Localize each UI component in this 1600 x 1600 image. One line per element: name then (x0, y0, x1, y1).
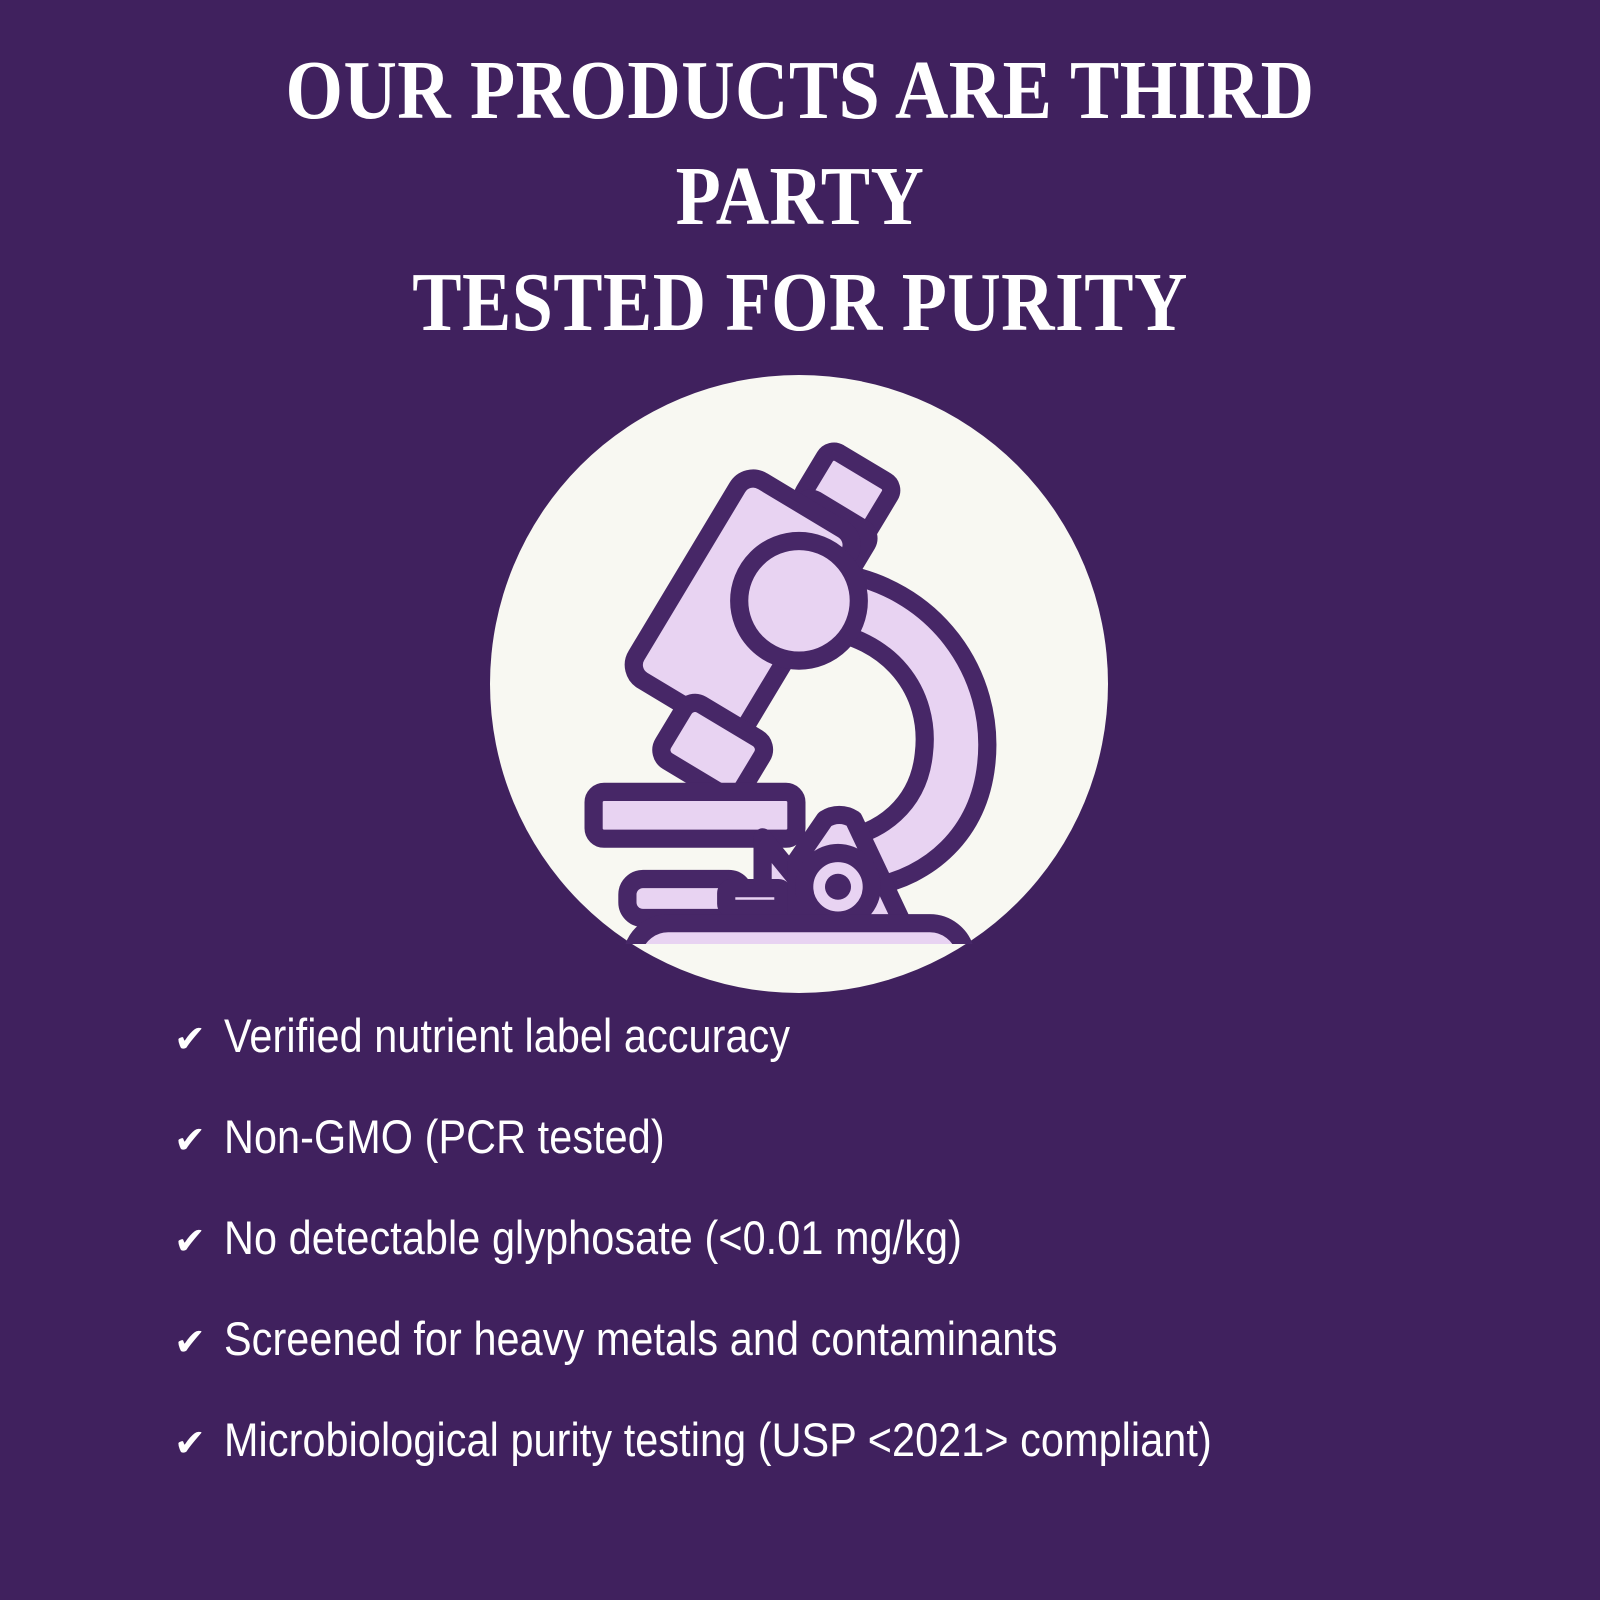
list-item: ✔ No detectable glyphosate (<0.01 mg/kg) (174, 1214, 1504, 1315)
check-icon: ✔ (174, 1222, 224, 1260)
poster-root: OUR PRODUCTS ARE THIRD PARTY TESTED FOR … (0, 0, 1600, 1600)
microscope-icon (539, 424, 1059, 944)
medallion-circle (490, 375, 1108, 993)
check-icon: ✔ (174, 1424, 224, 1462)
list-item-label: Non-GMO (PCR tested) (224, 1113, 665, 1160)
list-item-label: Microbiological purity testing (USP <202… (224, 1416, 1212, 1463)
check-icon: ✔ (174, 1121, 224, 1159)
list-item-label: No detectable glyphosate (<0.01 mg/kg) (224, 1214, 962, 1261)
claims-list: ✔ Verified nutrient label accuracy ✔ Non… (174, 1012, 1504, 1517)
list-item: ✔ Non-GMO (PCR tested) (174, 1113, 1504, 1214)
check-icon: ✔ (174, 1020, 224, 1058)
list-item: ✔ Verified nutrient label accuracy (174, 1012, 1504, 1113)
list-item: ✔ Microbiological purity testing (USP <2… (174, 1416, 1504, 1517)
check-icon: ✔ (174, 1323, 224, 1361)
list-item: ✔ Screened for heavy metals and contamin… (174, 1315, 1504, 1416)
microscope-medallion (490, 375, 1108, 993)
list-item-label: Screened for heavy metals and contaminan… (224, 1315, 1058, 1362)
list-item-label: Verified nutrient label accuracy (224, 1012, 790, 1059)
page-title: OUR PRODUCTS ARE THIRD PARTY TESTED FOR … (219, 38, 1381, 355)
